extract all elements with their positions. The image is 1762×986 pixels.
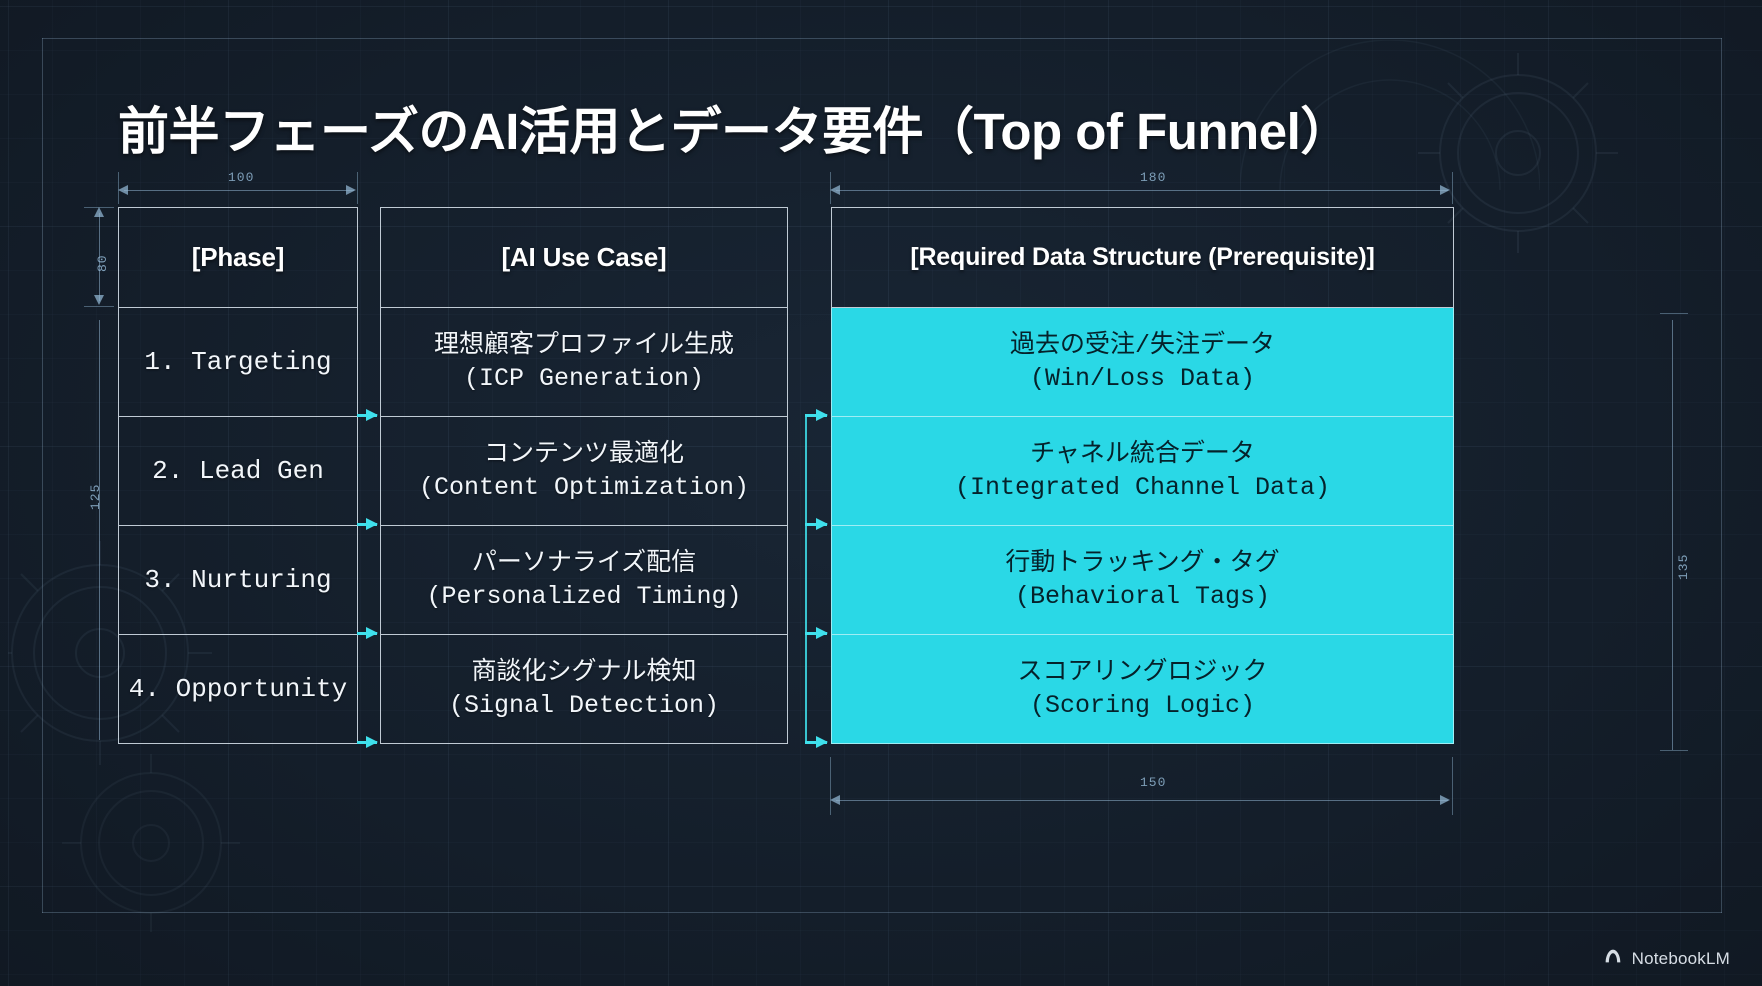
dimension-arrow-down-1 xyxy=(94,295,104,305)
cell-phase-2: 2. Lead Gen xyxy=(118,417,358,526)
flow-arrow-usecase-to-data-1 xyxy=(805,414,827,417)
frame-top-rule xyxy=(42,38,1722,39)
cell-data-2-en: (Integrated Channel Data) xyxy=(955,471,1330,505)
cell-data-4-ja: スコアリングロジック xyxy=(1017,656,1267,690)
cell-usecase-2-en: (Content Optimization) xyxy=(419,471,749,505)
dimension-tick-3a xyxy=(84,207,114,208)
dimension-arrow-left-1 xyxy=(118,185,128,195)
flow-arrow-phase-to-usecase-2 xyxy=(357,523,377,526)
dimension-arrow-right-1 xyxy=(346,185,356,195)
gear-decoration-bottom-left xyxy=(56,748,246,938)
cell-data-1: 過去の受注/失注データ (Win/Loss Data) xyxy=(831,308,1454,417)
dimension-label-top-left: 100 xyxy=(228,170,254,185)
cell-data-4-en: (Scoring Logic) xyxy=(1017,689,1267,723)
dimension-label-left-lower: 125 xyxy=(88,484,103,510)
cell-usecase-3-en: (Personalized Timing) xyxy=(426,580,741,614)
dimension-tick-5b xyxy=(1452,757,1453,815)
dimension-line-left-lower xyxy=(99,320,100,740)
flow-arrow-phase-to-usecase-4 xyxy=(357,741,377,744)
dimension-tick-1a xyxy=(118,172,119,204)
slide-title: 前半フェーズのAI活用とデータ要件（Top of Funnel） xyxy=(118,90,1351,164)
dimension-tick-3b xyxy=(84,306,114,307)
flow-connector-vertical xyxy=(805,414,807,744)
cell-usecase-4: 商談化シグナル検知 (Signal Detection) xyxy=(380,635,788,744)
dimension-label-top-right: 180 xyxy=(1140,170,1166,185)
column-ai-use-case: [AI Use Case] 理想顧客プロファイル生成 (ICP Generati… xyxy=(380,207,788,744)
cell-data-4: スコアリングロジック (Scoring Logic) xyxy=(831,635,1454,744)
cell-data-3-ja: 行動トラッキング・タグ xyxy=(1005,547,1279,581)
dimension-label-left-upper: 80 xyxy=(95,254,110,272)
dimension-tick-2a xyxy=(830,172,831,204)
cell-data-2-ja: チャネル統合データ xyxy=(955,438,1330,472)
dimension-tick-5a xyxy=(830,757,831,815)
cell-phase-1: 1. Targeting xyxy=(118,308,358,417)
dimension-arrow-up-1 xyxy=(94,207,104,217)
dimension-arrow-right-2 xyxy=(1440,185,1450,195)
dimension-line-bottom xyxy=(836,800,1448,801)
cell-usecase-1-en: (ICP Generation) xyxy=(434,362,734,396)
dimension-label-bottom: 150 xyxy=(1140,775,1166,790)
cell-usecase-2: コンテンツ最適化 (Content Optimization) xyxy=(380,417,788,526)
cell-usecase-3: パーソナライズ配信 (Personalized Timing) xyxy=(380,526,788,635)
dimension-arrow-left-2 xyxy=(830,185,840,195)
notebooklm-logo-label: NotebookLM xyxy=(1632,949,1730,969)
flow-arrow-phase-to-usecase-3 xyxy=(357,632,377,635)
column-phase: [Phase] 1. Targeting 2. Lead Gen 3. Nurt… xyxy=(118,207,358,744)
dimension-arrow-left-3 xyxy=(830,795,840,805)
flow-arrow-phase-to-usecase-1 xyxy=(357,414,377,417)
dimension-line-left-upper xyxy=(99,213,100,301)
notebooklm-icon xyxy=(1602,945,1624,972)
dimension-tick-2b xyxy=(1452,172,1453,204)
cell-data-1-ja: 過去の受注/失注データ xyxy=(1010,329,1275,363)
flow-arrow-usecase-to-data-2 xyxy=(805,523,827,526)
flow-arrow-usecase-to-data-3 xyxy=(805,632,827,635)
cell-usecase-4-ja: 商談化シグナル検知 xyxy=(449,656,719,690)
cell-phase-3: 3. Nurturing xyxy=(118,526,358,635)
cell-usecase-1-ja: 理想顧客プロファイル生成 xyxy=(434,329,734,363)
frame-left-rule xyxy=(42,38,43,913)
cell-data-2: チャネル統合データ (Integrated Channel Data) xyxy=(831,417,1454,526)
header-ai-use-case: [AI Use Case] xyxy=(380,207,788,308)
flow-arrow-usecase-to-data-4 xyxy=(805,741,827,744)
notebooklm-logo: NotebookLM xyxy=(1602,945,1730,972)
cell-usecase-1: 理想顧客プロファイル生成 (ICP Generation) xyxy=(380,308,788,417)
column-required-data-structure: [Required Data Structure (Prerequisite)]… xyxy=(831,207,1454,744)
cell-data-3-en: (Behavioral Tags) xyxy=(1005,580,1279,614)
cell-usecase-2-ja: コンテンツ最適化 xyxy=(419,438,749,472)
cell-data-1-en: (Win/Loss Data) xyxy=(1010,362,1275,396)
frame-bottom-rule xyxy=(42,912,1722,913)
dimension-tick-1b xyxy=(357,172,358,204)
cell-usecase-3-ja: パーソナライズ配信 xyxy=(426,547,741,581)
dimension-line-right xyxy=(1672,320,1673,750)
dimension-line-top-left xyxy=(124,190,354,191)
frame-right-rule xyxy=(1721,38,1722,913)
cell-usecase-4-en: (Signal Detection) xyxy=(449,689,719,723)
dimension-tick-4a xyxy=(1660,313,1688,314)
header-phase: [Phase] xyxy=(118,207,358,308)
dimension-arrow-right-3 xyxy=(1440,795,1450,805)
dimension-label-right: 135 xyxy=(1676,554,1691,580)
slide-canvas: 前半フェーズのAI活用とデータ要件（Top of Funnel） 100 180… xyxy=(0,0,1762,986)
dimension-line-top-right xyxy=(836,190,1448,191)
cell-phase-4: 4. Opportunity xyxy=(118,635,358,744)
header-required-data-structure: [Required Data Structure (Prerequisite)] xyxy=(831,207,1454,308)
dimension-tick-4b xyxy=(1660,750,1688,751)
cell-data-3: 行動トラッキング・タグ (Behavioral Tags) xyxy=(831,526,1454,635)
